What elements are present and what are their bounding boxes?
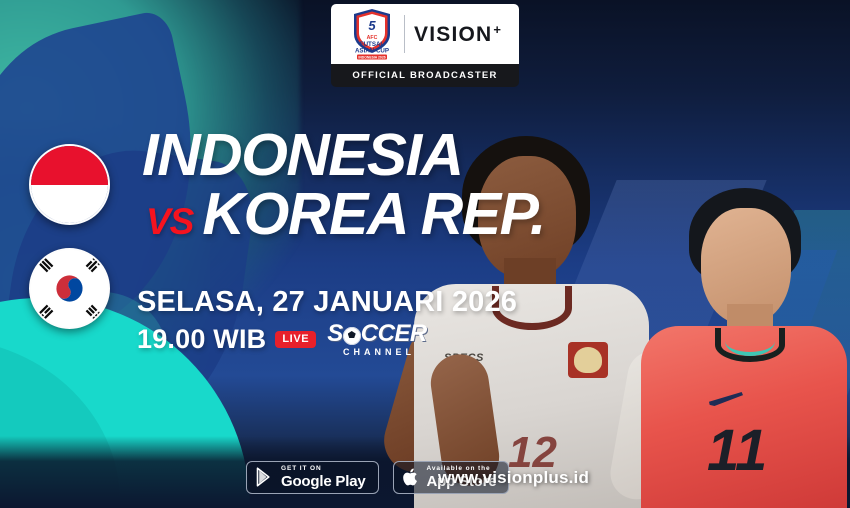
soccer-channel-wordmark: S CCER (327, 322, 427, 346)
google-play-badge[interactable]: GET IT ON Google Play (246, 461, 379, 495)
soccer-channel-logo: S CCER CHANNEL (327, 322, 427, 357)
google-play-big-label: Google Play (281, 474, 366, 489)
soccer-channel-name-suffix: CCER (361, 322, 427, 346)
apple-icon (403, 467, 420, 487)
live-badge: LIVE (275, 331, 316, 348)
home-team-name: INDONESIA (142, 128, 549, 183)
google-play-icon (256, 467, 274, 487)
google-play-small-label: GET IT ON (281, 466, 366, 473)
lockup-divider (404, 15, 405, 53)
flag-indonesia-icon (29, 144, 110, 225)
soccer-ball-icon (343, 327, 361, 345)
visionplus-plus-icon: + (493, 23, 501, 36)
broadcaster-logo-row: 5 AFC FUTSAL ASIAN CUP INDONESIA 2026 VI… (331, 4, 519, 64)
website-url[interactable]: www.visionplus.id (438, 468, 589, 488)
visionplus-wordmark: VISION (414, 24, 492, 45)
svg-text:5: 5 (368, 18, 376, 33)
visionplus-logo: VISION + (414, 24, 501, 45)
player-korea: 11 (635, 178, 850, 508)
player-korea-number: 11 (707, 422, 767, 480)
match-time-row: 19.00 WIB LIVE S CCER CHANNEL (137, 322, 517, 357)
svg-text:ASIAN CUP: ASIAN CUP (355, 48, 389, 55)
match-headline: INDONESIA VS KOREA REP. (146, 128, 545, 242)
soccer-channel-subtitle: CHANNEL (343, 347, 415, 357)
versus-label: VS (146, 203, 193, 240)
away-team-name: KOREA REP. (202, 187, 544, 242)
taegeuk-symbol-icon (31, 250, 108, 327)
svg-text:INDONESIA 2026: INDONESIA 2026 (358, 56, 385, 60)
official-broadcaster-label: OFFICIAL BROADCASTER (352, 70, 497, 81)
flag-korea-icon (29, 248, 110, 329)
schedule-block: SELASA, 27 JANUARI 2026 19.00 WIB LIVE S… (137, 286, 517, 357)
soccer-channel-name-prefix: S (327, 322, 343, 346)
official-broadcaster-bar: OFFICIAL BROADCASTER (331, 64, 519, 87)
afc-futsal-asian-cup-logo-icon: 5 AFC FUTSAL ASIAN CUP INDONESIA 2026 (349, 8, 395, 60)
broadcaster-lockup: 5 AFC FUTSAL ASIAN CUP INDONESIA 2026 VI… (331, 4, 519, 87)
promo-poster: SPECS 12 11 5 AFC FUTSAL ASIAN CUP INDON… (0, 0, 850, 508)
garuda-crest-icon (568, 342, 608, 378)
google-play-text: GET IT ON Google Play (281, 466, 366, 490)
player-korea-collar (715, 328, 785, 362)
match-date: SELASA, 27 JANUARI 2026 (137, 286, 517, 319)
versus-line: VS KOREA REP. (146, 187, 545, 242)
match-time: 19.00 WIB (137, 324, 266, 355)
